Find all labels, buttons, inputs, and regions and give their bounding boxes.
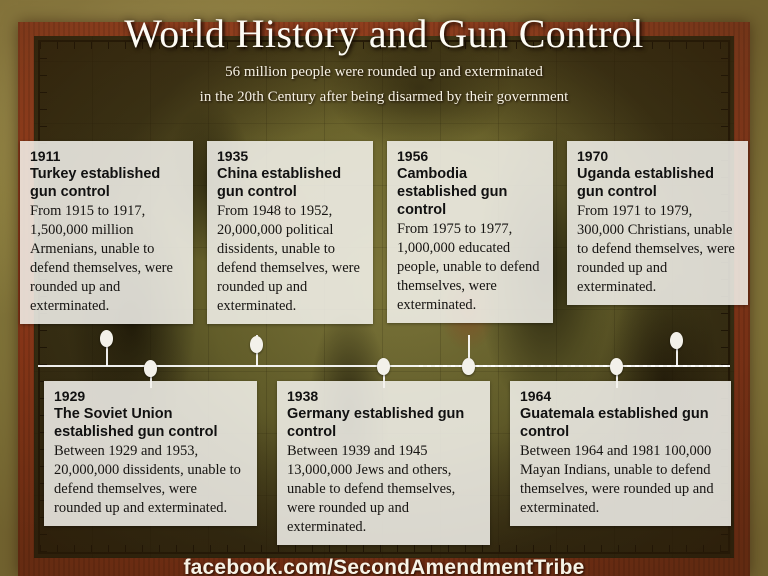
timeline-node-1964[interactable] xyxy=(610,358,623,375)
page-title: World History and Gun Control xyxy=(0,10,768,58)
timeline-card-1970[interactable]: 1970 Uganda established gun control From… xyxy=(567,141,748,305)
card-year: 1911 xyxy=(30,148,183,165)
timeline-node-1956[interactable] xyxy=(462,358,475,375)
card-body: Between 1939 and 1945 13,000,000 Jews an… xyxy=(287,442,480,537)
card-body: From 1948 to 1952, 20,000,000 political … xyxy=(217,202,363,316)
card-headline: China established gun control xyxy=(217,165,363,201)
card-headline: Uganda established gun control xyxy=(577,165,738,201)
card-year: 1956 xyxy=(397,148,543,165)
card-body: Between 1964 and 1981 100,000 Mayan Indi… xyxy=(520,442,721,518)
card-year: 1964 xyxy=(520,388,721,405)
card-body: From 1975 to 1977, 1,000,000 educated pe… xyxy=(397,220,543,315)
timeline-node-1929[interactable] xyxy=(144,360,157,377)
card-headline: The Soviet Union established gun control xyxy=(54,405,247,441)
timeline-card-1935[interactable]: 1935 China established gun control From … xyxy=(207,141,373,324)
card-headline: Guatemala established gun control xyxy=(520,405,721,441)
poster-header: World History and Gun Control 56 million… xyxy=(0,10,768,108)
timeline-node-1911[interactable] xyxy=(100,330,113,347)
card-year: 1935 xyxy=(217,148,363,165)
poster-background: World History and Gun Control 56 million… xyxy=(0,0,768,576)
card-headline: Germany established gun control xyxy=(287,405,480,441)
card-year: 1929 xyxy=(54,388,247,405)
timeline-node-1970[interactable] xyxy=(670,332,683,349)
timeline-card-1956[interactable]: 1956 Cambodia established gun control Fr… xyxy=(387,141,553,323)
timeline-card-1938[interactable]: 1938 Germany established gun control Bet… xyxy=(277,381,490,545)
subtitle-line-1: 56 million people were rounded up and ex… xyxy=(0,62,768,83)
map-tick-marks-bottom xyxy=(40,545,728,552)
timeline-node-1935[interactable] xyxy=(250,336,263,353)
timeline-card-1929[interactable]: 1929 The Soviet Union established gun co… xyxy=(44,381,257,526)
card-body: From 1915 to 1917, 1,500,000 million Arm… xyxy=(30,202,183,316)
timeline-card-1964[interactable]: 1964 Guatemala established gun control B… xyxy=(510,381,731,526)
card-headline: Cambodia established gun control xyxy=(397,165,543,219)
subtitle-line-2: in the 20th Century after being disarmed… xyxy=(0,87,768,108)
card-year: 1970 xyxy=(577,148,738,165)
attribution-link[interactable]: facebook.com/SecondAmendmentTribe xyxy=(0,557,768,576)
card-body: Between 1929 and 1953, 20,000,000 dissid… xyxy=(54,442,247,518)
timeline-card-1911[interactable]: 1911 Turkey established gun control From… xyxy=(20,141,193,324)
card-headline: Turkey established gun control xyxy=(30,165,183,201)
card-body: From 1971 to 1979, 300,000 Christians, u… xyxy=(577,202,738,297)
card-year: 1938 xyxy=(287,388,480,405)
timeline-node-1938[interactable] xyxy=(377,358,390,375)
